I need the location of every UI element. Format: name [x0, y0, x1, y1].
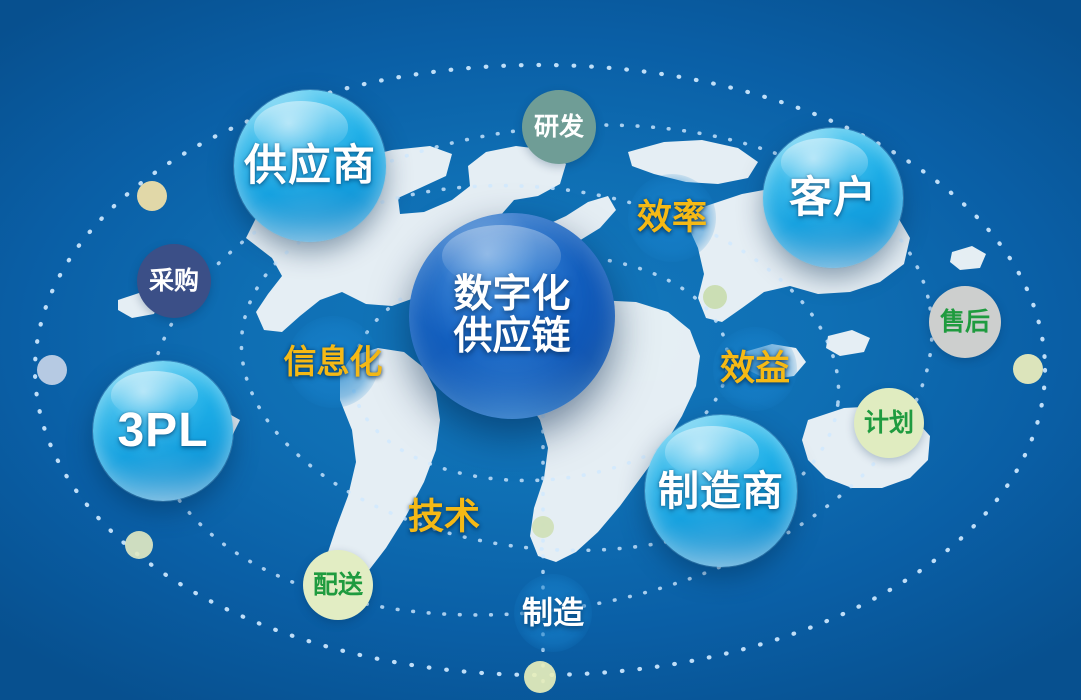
bubble-customer[interactable]: 客户: [763, 128, 903, 268]
chip-after-sales[interactable]: 售后: [929, 286, 1001, 358]
marker-bottom: [524, 661, 556, 693]
chip-distribution[interactable]: 配送: [303, 550, 373, 620]
bubble-label-manufacturer: 制造商: [658, 469, 784, 513]
text-label-benefit[interactable]: 效益: [720, 350, 790, 388]
marker-top-left: [137, 181, 167, 211]
chip-rnd[interactable]: 研发: [522, 90, 596, 164]
marker-right: [1013, 354, 1043, 384]
center-label-line-2: 供应链: [453, 316, 570, 358]
bubble-label-supplier: 供应商: [244, 143, 376, 189]
text-label-manufacturing[interactable]: 制造: [522, 596, 584, 629]
text-label-technology[interactable]: 技术: [408, 498, 480, 537]
bubble-manufacturer[interactable]: 制造商: [645, 415, 797, 567]
bubble-supplier[interactable]: 供应商: [234, 90, 386, 242]
center-node-digital-supply-chain[interactable]: 数字化 供应链: [409, 213, 615, 419]
bubble-label-customer: 客户: [789, 175, 877, 221]
chip-procurement[interactable]: 采购: [137, 244, 211, 318]
marker-lower-left: [125, 531, 153, 559]
text-label-informatization[interactable]: 信息化: [284, 344, 383, 380]
text-label-efficiency[interactable]: 效率: [637, 199, 707, 237]
marker-left: [37, 355, 67, 385]
center-label-line-1: 数字化: [453, 274, 570, 316]
marker-inner-bottom: [532, 516, 554, 538]
bubble-third-party-logistics[interactable]: 3PL: [93, 361, 233, 501]
bubble-label-third-party-logistics: 3PL: [117, 405, 208, 457]
chip-planning[interactable]: 计划: [854, 388, 924, 458]
marker-inner-right: [703, 285, 727, 309]
infographic-canvas: 效率效益信息化技术制造研发采购售后计划配送供应商客户3PL制造商 数字化 供应链: [0, 0, 1081, 700]
